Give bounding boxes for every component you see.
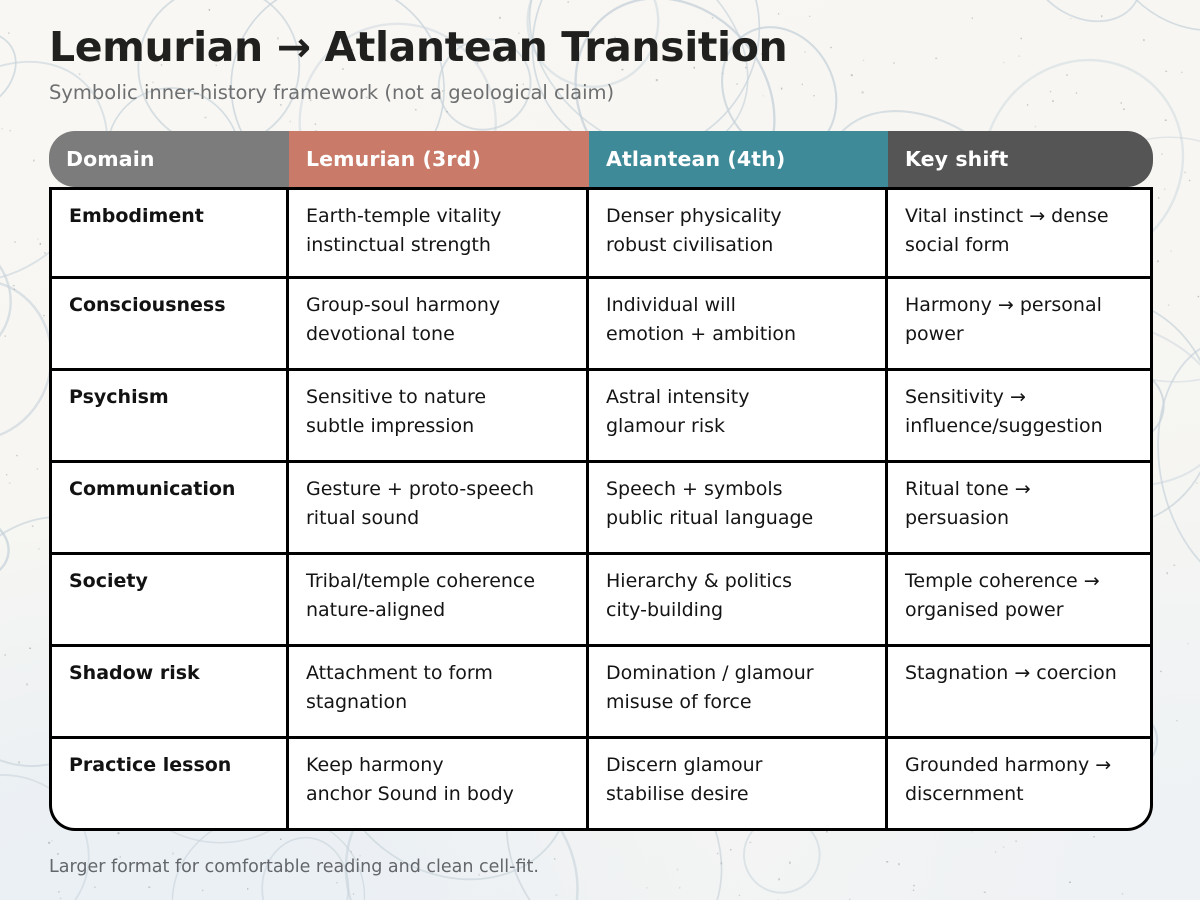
cell-line: nature-aligned: [306, 598, 569, 623]
cell-line: power: [905, 322, 1133, 347]
row-label-cell: Communication: [49, 463, 289, 555]
cell-line: discernment: [905, 782, 1133, 807]
column-header-key-shift: Key shift: [888, 131, 1153, 187]
table-cell-keyshift: Harmony → personalpower: [888, 279, 1153, 371]
table-cell-lemurian: Sensitive to naturesubtle impression: [289, 371, 589, 463]
cell-line: Group-soul harmony: [306, 293, 569, 318]
table-cell-atlantean: Speech + symbolspublic ritual language: [589, 463, 888, 555]
table-cell-keyshift: Ritual tone →persuasion: [888, 463, 1153, 555]
table-cell-atlantean: Astral intensityglamour risk: [589, 371, 888, 463]
table-cell-atlantean: Individual willemotion + ambition: [589, 279, 888, 371]
table-cell-keyshift: Sensitivity →influence/suggestion: [888, 371, 1153, 463]
cell-line: stagnation: [306, 690, 569, 715]
cell-line: Tribal/temple coherence: [306, 569, 569, 594]
table-header-row: Domain Lemurian (3rd) Atlantean (4th) Ke…: [49, 131, 1153, 187]
cell-line: emotion + ambition: [606, 322, 868, 347]
table-header: Domain Lemurian (3rd) Atlantean (4th) Ke…: [49, 131, 1153, 187]
table-cell-keyshift: Vital instinct → densesocial form: [888, 187, 1153, 279]
cell-line: Vital instinct → dense: [905, 204, 1133, 229]
cell-line: Grounded harmony →: [905, 753, 1133, 778]
cell-line: Attachment to form: [306, 661, 569, 686]
row-label-cell: Society: [49, 555, 289, 647]
cell-line: ritual sound: [306, 506, 569, 531]
table-cell-lemurian: Tribal/temple coherencenature-aligned: [289, 555, 589, 647]
column-header-lemurian: Lemurian (3rd): [289, 131, 589, 187]
table-row: EmbodimentEarth-temple vitalityinstinctu…: [49, 187, 1153, 279]
table-cell-keyshift: Stagnation → coercion: [888, 647, 1153, 739]
cell-line: Hierarchy & politics: [606, 569, 868, 594]
cell-line: glamour risk: [606, 414, 868, 439]
row-label-cell: Embodiment: [49, 187, 289, 279]
cell-line: Domination / glamour: [606, 661, 868, 686]
table-body: EmbodimentEarth-temple vitalityinstinctu…: [49, 187, 1153, 831]
table-cell-lemurian: Group-soul harmonydevotional tone: [289, 279, 589, 371]
comparison-table-wrapper: Domain Lemurian (3rd) Atlantean (4th) Ke…: [49, 131, 1153, 831]
table-cell-atlantean: Discern glamourstabilise desire: [589, 739, 888, 831]
footer-note: Larger format for comfortable reading an…: [49, 857, 539, 878]
cell-line: Temple coherence →: [905, 569, 1133, 594]
cell-line: Speech + symbols: [606, 477, 868, 502]
table-cell-lemurian: Earth-temple vitalityinstinctual strengt…: [289, 187, 589, 279]
cell-line: Sensitive to nature: [306, 385, 569, 410]
table-row: SocietyTribal/temple coherencenature-ali…: [49, 555, 1153, 647]
table-row: Practice lessonKeep harmonyanchor Sound …: [49, 739, 1153, 831]
cell-line: persuasion: [905, 506, 1133, 531]
row-label-cell: Shadow risk: [49, 647, 289, 739]
cell-line: organised power: [905, 598, 1133, 623]
cell-line: Gesture + proto-speech: [306, 477, 569, 502]
cell-line: robust civilisation: [606, 233, 868, 258]
table-row: PsychismSensitive to naturesubtle impres…: [49, 371, 1153, 463]
table-cell-lemurian: Keep harmonyanchor Sound in body: [289, 739, 589, 831]
cell-line: Keep harmony: [306, 753, 569, 778]
cell-line: influence/suggestion: [905, 414, 1133, 439]
cell-line: social form: [905, 233, 1133, 258]
cell-line: public ritual language: [606, 506, 868, 531]
cell-line: Stagnation → coercion: [905, 661, 1133, 686]
cell-line: Denser physicality: [606, 204, 868, 229]
cell-line: Ritual tone →: [905, 477, 1133, 502]
cell-line: Sensitivity →: [905, 385, 1133, 410]
table-cell-atlantean: Denser physicalityrobust civilisation: [589, 187, 888, 279]
cell-line: city-building: [606, 598, 868, 623]
table-cell-keyshift: Temple coherence →organised power: [888, 555, 1153, 647]
header-block: Lemurian → Atlantean Transition Symbolic…: [49, 26, 1159, 105]
table-row: ConsciousnessGroup-soul harmonydevotiona…: [49, 279, 1153, 371]
cell-line: stabilise desire: [606, 782, 868, 807]
page-subtitle: Symbolic inner-history framework (not a …: [49, 81, 1159, 104]
row-label-cell: Practice lesson: [49, 739, 289, 831]
cell-line: misuse of force: [606, 690, 868, 715]
table-cell-lemurian: Gesture + proto-speechritual sound: [289, 463, 589, 555]
cell-line: Discern glamour: [606, 753, 868, 778]
cell-line: Earth-temple vitality: [306, 204, 569, 229]
infographic-page: Lemurian → Atlantean Transition Symbolic…: [0, 0, 1200, 900]
table-cell-lemurian: Attachment to formstagnation: [289, 647, 589, 739]
cell-line: Harmony → personal: [905, 293, 1133, 318]
row-label-cell: Psychism: [49, 371, 289, 463]
table-row: CommunicationGesture + proto-speechritua…: [49, 463, 1153, 555]
column-header-atlantean: Atlantean (4th): [589, 131, 888, 187]
cell-line: instinctual strength: [306, 233, 569, 258]
cell-line: Individual will: [606, 293, 868, 318]
table-row: Shadow riskAttachment to formstagnationD…: [49, 647, 1153, 739]
cell-line: anchor Sound in body: [306, 782, 569, 807]
cell-line: devotional tone: [306, 322, 569, 347]
column-header-domain: Domain: [49, 131, 289, 187]
table-cell-atlantean: Domination / glamourmisuse of force: [589, 647, 888, 739]
comparison-table: Domain Lemurian (3rd) Atlantean (4th) Ke…: [49, 131, 1153, 831]
table-cell-atlantean: Hierarchy & politicscity-building: [589, 555, 888, 647]
row-label-cell: Consciousness: [49, 279, 289, 371]
cell-line: Astral intensity: [606, 385, 868, 410]
cell-line: subtle impression: [306, 414, 569, 439]
page-title: Lemurian → Atlantean Transition: [49, 26, 1159, 69]
table-cell-keyshift: Grounded harmony →discernment: [888, 739, 1153, 831]
